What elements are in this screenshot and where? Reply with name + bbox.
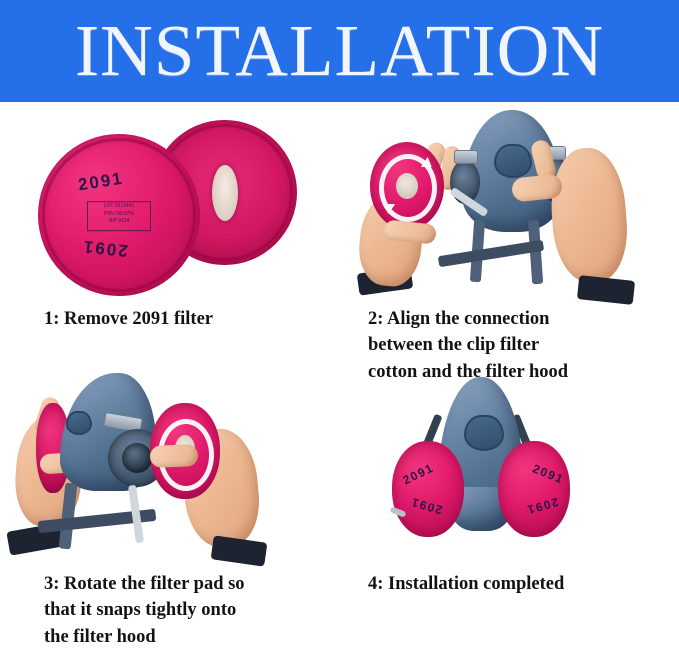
step-1-caption: 1: Remove 2091 filter: [0, 306, 346, 332]
pad-center: [396, 173, 418, 199]
caption-line: 1: Remove 2091 filter: [44, 306, 340, 332]
caption-line: 4: Installation completed: [368, 571, 673, 597]
step-2-figure: [346, 102, 679, 302]
filter-model-number-inverted: 2091: [409, 495, 444, 517]
filter-lot-label: LOT 0210441 P95 / 99.97% N/P 9114: [87, 201, 151, 231]
step-4-caption: 4: Installation completed: [346, 571, 679, 597]
step-4-figure: 2091 2091 2091 2091: [346, 367, 679, 567]
bayonet-port-inner: [122, 443, 152, 473]
exhale-valve-cover: [494, 144, 532, 178]
step-3-figure: [0, 367, 346, 567]
steps-grid: 2091 LOT 0210441 P95 / 99.97% N/P 9114 2…: [0, 102, 679, 658]
page-title: INSTALLATION: [75, 14, 604, 87]
lot-line-3: N/P 9114: [88, 218, 150, 226]
step-3-caption: 3: Rotate the filter pad so that it snap…: [0, 571, 346, 650]
step-4: 2091 2091 2091 2091 4: Installation comp…: [346, 367, 679, 658]
installed-filter-right: 2091 2091: [498, 441, 570, 537]
filter-model-number-inverted: 2091: [525, 495, 560, 517]
exhale-valve-cover: [464, 415, 504, 451]
installation-guide-page: INSTALLATION 2091 LOT 0210441 P95 / 99.9…: [0, 0, 679, 658]
caption-line: between the clip filter: [368, 332, 673, 358]
step-3: 3: Rotate the filter pad so that it snap…: [0, 367, 346, 658]
right-hand-palm: [547, 146, 630, 285]
right-sleeve: [211, 535, 268, 566]
installed-filter-left: 2091 2091: [392, 441, 464, 537]
filter-model-number: 2091: [401, 461, 437, 488]
filter-center-oval: [212, 165, 238, 221]
header-banner: INSTALLATION: [0, 0, 679, 102]
filter-disc-front: 2091 LOT 0210441 P95 / 99.97% N/P 9114 2…: [38, 134, 200, 296]
lot-line-1: LOT 0210441: [88, 203, 150, 211]
caption-line: that it snaps tightly onto: [44, 597, 340, 623]
caption-line: 2: Align the connection: [368, 306, 673, 332]
lot-line-2: P95 / 99.97%: [88, 211, 150, 219]
filter-pad-with-arrows: [370, 142, 444, 230]
step-1-figure: 2091 LOT 0210441 P95 / 99.97% N/P 9114 2…: [0, 102, 346, 302]
step-1: 2091 LOT 0210441 P95 / 99.97% N/P 9114 2…: [0, 102, 346, 367]
right-hand-thumb: [150, 444, 199, 468]
caption-line: 3: Rotate the filter pad so: [44, 571, 340, 597]
caption-line: the filter hood: [44, 624, 340, 650]
step-2: 2: Align the connection between the clip…: [346, 102, 679, 367]
filter-model-number: 2091: [531, 461, 567, 486]
head-strap-band: [438, 240, 544, 267]
right-sleeve: [577, 275, 635, 305]
left-strap-clip: [454, 150, 478, 164]
exhale-valve-cover: [66, 411, 92, 435]
